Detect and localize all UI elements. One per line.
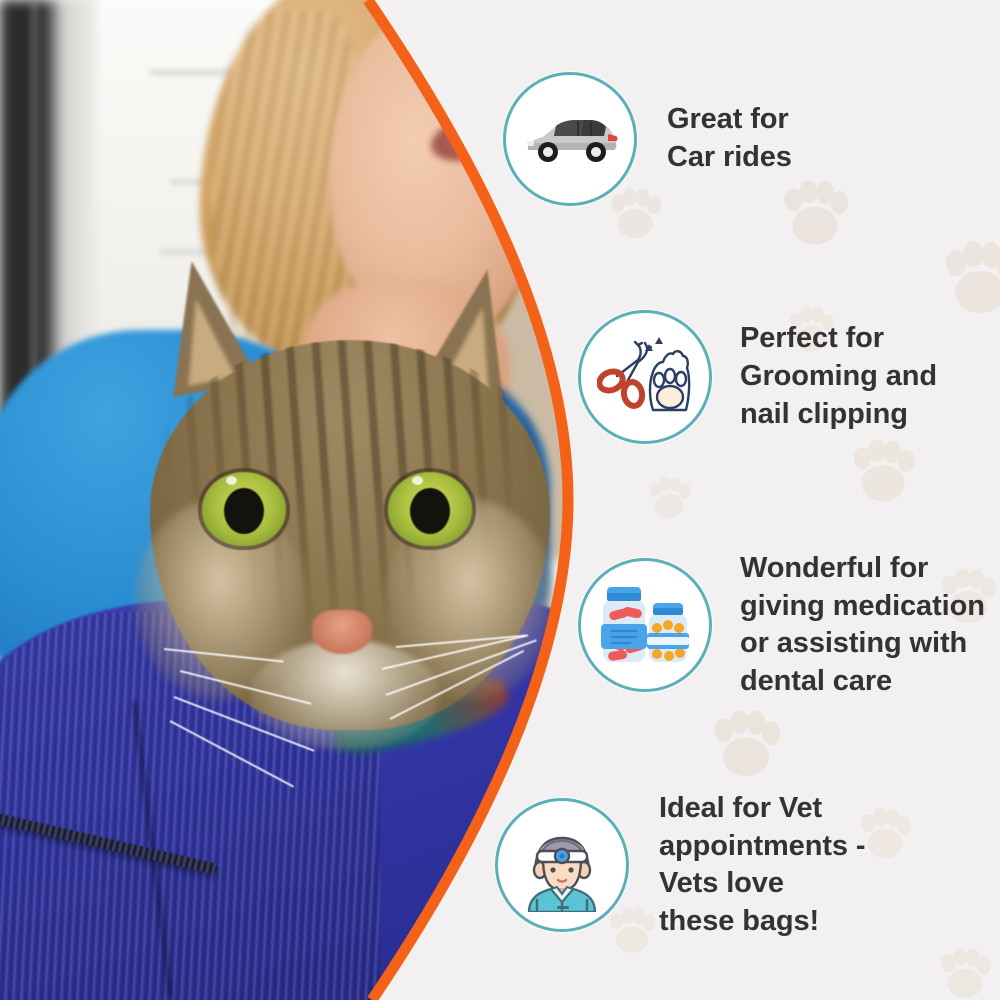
feature-item-grooming[interactable]: Perfect for Grooming and nail clipping bbox=[578, 310, 937, 444]
car-icon-glyph bbox=[520, 108, 620, 170]
feature-list: Great for Car rides bbox=[0, 0, 1000, 1000]
feature-item-vet[interactable]: Ideal for Vet appointments - Vets love t… bbox=[495, 790, 865, 941]
feature-label: Wonderful for giving medication or assis… bbox=[740, 550, 985, 701]
car-icon bbox=[503, 72, 637, 206]
medicine-bottles-icon bbox=[578, 558, 712, 692]
feature-label: Ideal for Vet appointments - Vets love t… bbox=[659, 790, 865, 941]
feature-item-medication[interactable]: Wonderful for giving medication or assis… bbox=[578, 550, 985, 701]
nail-clipper-paw-icon bbox=[578, 310, 712, 444]
feature-infographic: Great for Car rides bbox=[0, 0, 1000, 1000]
feature-item-car-rides[interactable]: Great for Car rides bbox=[503, 72, 792, 206]
nail-clipper-paw-icon-glyph bbox=[597, 332, 693, 422]
feature-label: Perfect for Grooming and nail clipping bbox=[740, 320, 937, 433]
veterinarian-icon bbox=[495, 798, 629, 932]
veterinarian-icon-glyph bbox=[515, 818, 609, 912]
feature-label: Great for Car rides bbox=[667, 101, 792, 176]
medicine-bottles-icon-glyph bbox=[595, 580, 695, 670]
